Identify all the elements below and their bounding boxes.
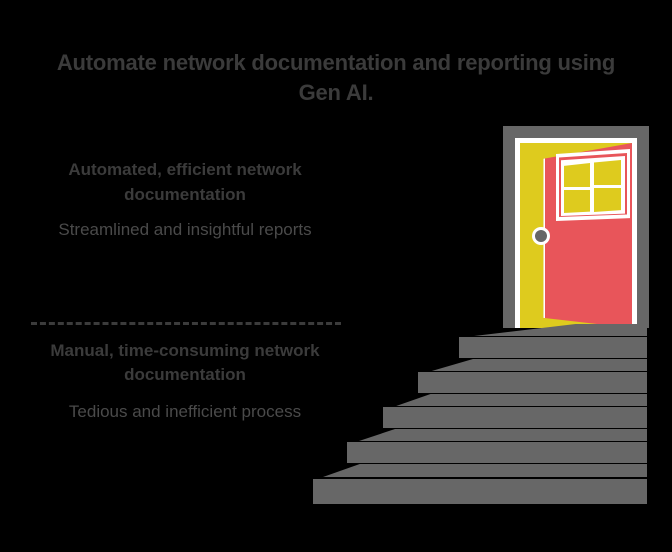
stair-step-3-tread	[383, 394, 647, 406]
stair-step-1-tread	[313, 464, 647, 477]
stair-step-3-riser	[383, 407, 647, 428]
stair-step-2-riser	[347, 442, 647, 463]
infographic-canvas: Automate network documentation and repor…	[0, 0, 672, 552]
stair-step-5-tread	[459, 324, 647, 336]
stair-step-5-riser	[459, 337, 647, 358]
stair-step-4-riser	[418, 372, 647, 393]
five-step-staircase	[0, 0, 672, 552]
stair-step-1-riser	[313, 479, 647, 504]
stair-step-2-tread	[347, 429, 647, 441]
stair-step-4-tread	[418, 359, 647, 371]
